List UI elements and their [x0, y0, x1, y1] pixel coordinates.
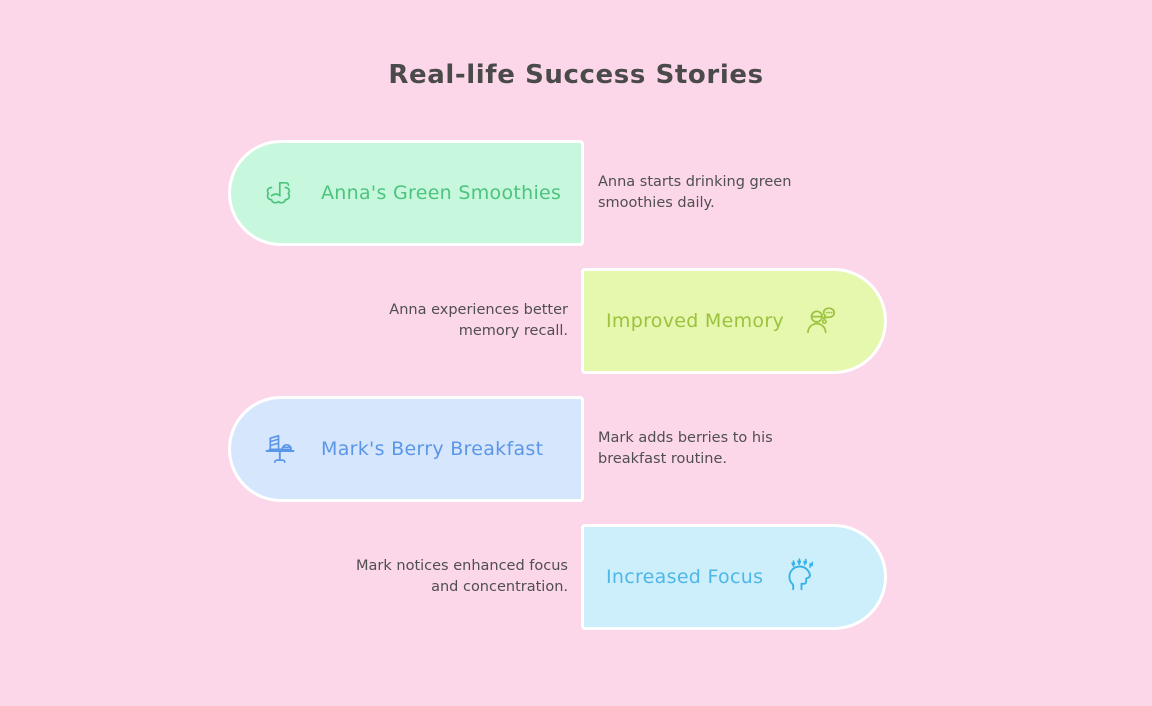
timeline-description: Anna experiences better memory recall. [338, 300, 568, 342]
timeline-card-improved-memory[interactable]: Improved Memory [581, 268, 887, 374]
page-title: Real-life Success Stories [0, 60, 1152, 90]
timeline-description: Mark notices enhanced focus and concentr… [338, 556, 568, 598]
timeline-list: Anna's Green Smoothies Anna starts drink… [0, 140, 1152, 652]
timeline-description: Anna starts drinking green smoothies dai… [598, 172, 828, 214]
timeline-row: Improved Memory Anna experiences better … [0, 268, 1152, 396]
cake-stand-icon [257, 426, 303, 472]
timeline-row: Increased Focus Mark notices enhanced fo… [0, 524, 1152, 652]
timeline-card-increased-focus[interactable]: Increased Focus [581, 524, 887, 630]
infographic-page: Real-life Success Stories Anna's Green S… [0, 0, 1152, 706]
timeline-card-label: Anna's Green Smoothies [321, 182, 561, 204]
timeline-description: Mark adds berries to his breakfast routi… [598, 428, 828, 470]
timeline-card-label: Increased Focus [606, 566, 763, 588]
smoothie-icon [257, 170, 303, 216]
timeline-card-label: Improved Memory [606, 310, 784, 332]
timeline-row: Anna's Green Smoothies Anna starts drink… [0, 140, 1152, 268]
timeline-card-marks-berry-breakfast[interactable]: Mark's Berry Breakfast [228, 396, 584, 502]
timeline-row: Mark's Berry Breakfast Mark adds berries… [0, 396, 1152, 524]
timeline-card-annas-green-smoothies[interactable]: Anna's Green Smoothies [228, 140, 584, 246]
timeline-card-label: Mark's Berry Breakfast [321, 438, 543, 460]
head-energy-icon [779, 554, 825, 600]
thought-bubble-person-icon [800, 298, 846, 344]
